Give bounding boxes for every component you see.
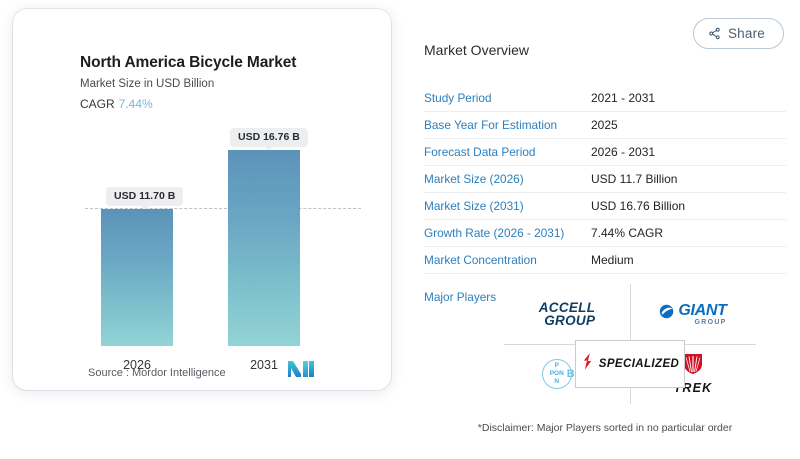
source-text: Source : Mordor Intelligence <box>88 367 226 379</box>
panel-title: Market Overview <box>424 42 786 58</box>
row-value: 2025 <box>591 118 618 132</box>
mordor-intelligence-logo <box>288 361 314 382</box>
giant-sub: GROUP <box>678 319 726 326</box>
giant-name: GIANT <box>678 302 726 319</box>
pon-l1: P <box>555 362 559 370</box>
major-players-logo-grid: ACCELL GROUP GIANT GROUP <box>504 284 756 404</box>
row-value: USD 16.76 Billion <box>591 199 685 213</box>
market-overview-panel: Market Overview Study Period 2021 - 2031… <box>424 42 786 304</box>
bar-chart-plot: USD 11.70 B 2026 USD 16.76 B 2031 <box>13 9 391 390</box>
bar-2031[interactable] <box>228 150 300 346</box>
row-value: 7.44% CAGR <box>591 226 663 240</box>
accell-line2: GROUP <box>539 314 596 327</box>
row-key: Forecast Data Period <box>424 145 591 159</box>
table-row: Forecast Data Period 2026 - 2031 <box>424 139 786 166</box>
bar-value-label-2031: USD 16.76 B <box>230 128 308 147</box>
row-key: Base Year For Estimation <box>424 118 591 132</box>
specialized-s-icon <box>581 353 594 375</box>
player-logo-giant-group: GIANT GROUP <box>630 284 756 344</box>
player-logo-accell-group: ACCELL GROUP <box>504 284 630 344</box>
table-row: Market Concentration Medium <box>424 247 786 274</box>
row-key: Market Concentration <box>424 253 591 267</box>
row-key: Growth Rate (2026 - 2031) <box>424 226 591 240</box>
bar-value-label-2026: USD 11.70 B <box>106 187 183 206</box>
pon-l2: PON <box>550 370 564 378</box>
row-value: Medium <box>591 253 634 267</box>
player-logo-specialized: SPECIALIZED <box>575 340 685 388</box>
row-key: Study Period <box>424 91 591 105</box>
row-value: 2026 - 2031 <box>591 145 655 159</box>
giant-swoosh-icon <box>659 304 674 324</box>
table-row: Market Size (2026) USD 11.7 Billion <box>424 166 786 193</box>
bar-2026[interactable] <box>101 209 173 346</box>
trek-shield-icon <box>683 353 703 380</box>
share-button-label: Share <box>728 26 765 41</box>
disclaimer-text: *Disclaimer: Major Players sorted in no … <box>424 422 786 434</box>
row-value: USD 11.7 Billion <box>591 172 677 186</box>
row-value: 2021 - 2031 <box>591 91 655 105</box>
market-report-card: Share North America Bicycle Market Marke… <box>0 0 800 459</box>
specialized-name: SPECIALIZED <box>599 358 679 370</box>
pon-l3: N <box>554 378 559 386</box>
table-row: Market Size (2031) USD 16.76 Billion <box>424 193 786 220</box>
table-row: Growth Rate (2026 - 2031) 7.44% CAGR <box>424 220 786 247</box>
table-row: Study Period 2021 - 2031 <box>424 85 786 112</box>
table-row: Base Year For Estimation 2025 <box>424 112 786 139</box>
row-key: Market Size (2031) <box>424 199 591 213</box>
chart-card: North America Bicycle Market Market Size… <box>13 9 391 390</box>
row-key: Market Size (2026) <box>424 172 591 186</box>
share-nodes-icon <box>708 27 721 40</box>
